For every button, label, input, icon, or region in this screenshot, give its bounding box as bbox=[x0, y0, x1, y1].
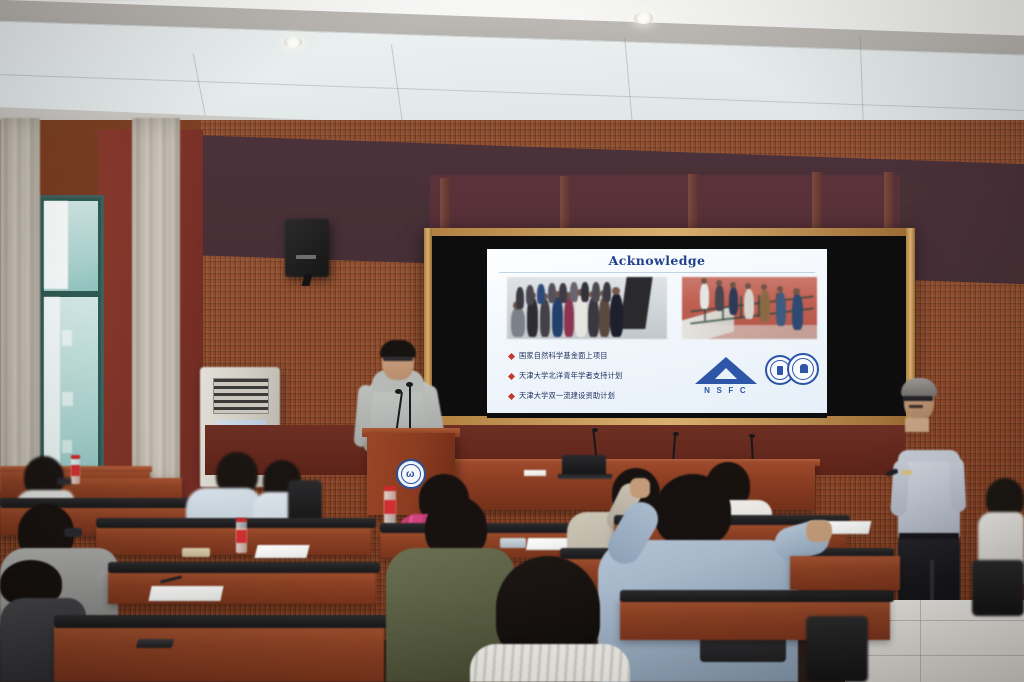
bottle-label bbox=[71, 465, 80, 476]
observer-wristwatch bbox=[902, 470, 912, 475]
desk-object bbox=[182, 548, 210, 557]
downlight-icon bbox=[634, 12, 653, 24]
laptop-keyboard-base[interactable] bbox=[558, 474, 612, 479]
attendee-blue-shirt-hand bbox=[806, 520, 832, 542]
microphone-head-icon bbox=[406, 382, 413, 387]
presentation-slide: Acknowledge bbox=[487, 249, 827, 413]
bottle-label bbox=[236, 530, 247, 543]
group-photo-outdoor bbox=[682, 277, 817, 339]
floor-tile-line bbox=[920, 600, 921, 682]
mobile-phone[interactable] bbox=[136, 639, 175, 648]
observer-glasses-icon bbox=[903, 396, 933, 401]
observer-neck bbox=[905, 418, 929, 432]
paper-sheet bbox=[524, 470, 546, 476]
attendee-glasses-icon bbox=[64, 528, 82, 537]
bottle-cap bbox=[71, 455, 80, 459]
slide-bullet-text: 天津大学双一流建设资助计划 bbox=[519, 391, 615, 401]
bullet-diamond-icon bbox=[508, 372, 515, 379]
video-wall-tile-topstrip bbox=[487, 236, 827, 250]
wall-speaker-icon bbox=[285, 219, 329, 277]
curtain-right bbox=[132, 118, 180, 493]
desk-edge-pad bbox=[0, 498, 205, 508]
seal-core-glyph bbox=[777, 366, 783, 375]
presenter-glasses-icon bbox=[383, 357, 413, 361]
bottle-cap bbox=[236, 518, 247, 522]
video-wall-tile-right bbox=[827, 236, 906, 416]
floor-tile-line bbox=[845, 655, 1024, 656]
observer-collar bbox=[898, 450, 960, 462]
bottle-label bbox=[384, 500, 396, 514]
desk-row-right bbox=[790, 556, 900, 590]
bottle-cap bbox=[384, 486, 396, 491]
slide-bullet: 国家自然科学基金面上项目 bbox=[509, 351, 608, 361]
chair bbox=[806, 616, 868, 682]
observer-right-arm bbox=[949, 458, 967, 513]
desk-edge-pad bbox=[620, 590, 894, 602]
bullet-diamond-icon bbox=[508, 392, 515, 399]
microphone-head-icon bbox=[749, 434, 755, 438]
slide-bullet-text: 国家自然科学基金面上项目 bbox=[519, 351, 608, 361]
downlight-icon bbox=[284, 37, 302, 48]
window-daylight bbox=[44, 201, 68, 289]
window-reflection bbox=[62, 392, 73, 406]
air-conditioner-grille bbox=[213, 378, 269, 414]
desk-edge-pad bbox=[54, 615, 390, 628]
desk-object bbox=[500, 538, 526, 548]
speaker-brand-logo bbox=[296, 255, 316, 259]
window-reflection bbox=[62, 330, 72, 346]
video-wall-frame-top bbox=[424, 228, 914, 236]
desk-row-1 bbox=[54, 624, 384, 682]
video-wall-tile-left bbox=[432, 236, 488, 416]
laptop-computer[interactable] bbox=[562, 455, 606, 475]
podium-microphone bbox=[409, 385, 411, 433]
curtain-left bbox=[0, 118, 40, 493]
attendee-beige-hand bbox=[630, 478, 650, 498]
chair bbox=[972, 560, 1024, 616]
attendee-blue-shirt-head bbox=[655, 474, 731, 546]
paper-sheet bbox=[254, 545, 309, 558]
nsfc-inner-cut bbox=[715, 368, 737, 379]
group-photo-indoor bbox=[507, 277, 667, 339]
slide-bullet-text: 天津大学北洋青年学者支持计划 bbox=[519, 371, 622, 381]
slide-title: Acknowledge bbox=[487, 253, 827, 268]
observer-moustache bbox=[909, 405, 923, 408]
nsfc-logo-icon: N S F C bbox=[695, 357, 757, 397]
attendee-ponytail-body bbox=[470, 644, 630, 682]
slide-bullet: 天津大学双一流建设资助计划 bbox=[509, 391, 615, 401]
lecture-hall-photo: Acknowledge bbox=[0, 0, 1024, 682]
emblem-glyph: ω bbox=[406, 470, 414, 480]
seal-core-glyph bbox=[800, 364, 808, 373]
microphone-head-icon bbox=[673, 432, 679, 436]
microphone-head-icon bbox=[592, 428, 598, 432]
desk-row-3b bbox=[96, 525, 371, 555]
podium-university-emblem-icon: ω bbox=[396, 459, 426, 489]
paper-sheet bbox=[148, 586, 223, 601]
bullet-diamond-icon bbox=[508, 352, 515, 359]
window-daylight bbox=[44, 297, 60, 477]
desk-edge-pad bbox=[108, 562, 380, 573]
attendee-glasses-icon bbox=[57, 478, 71, 485]
slide-bullet: 天津大学北洋青年学者支持计划 bbox=[509, 371, 622, 381]
observer-hair bbox=[901, 378, 937, 397]
university-seal-2-icon bbox=[787, 353, 819, 385]
slide-title-rule bbox=[499, 272, 815, 273]
microphone-head-icon bbox=[395, 389, 402, 394]
presenter-hair bbox=[380, 340, 416, 358]
window-reflection bbox=[62, 440, 72, 453]
nsfc-logo-text: N S F C bbox=[695, 386, 757, 395]
